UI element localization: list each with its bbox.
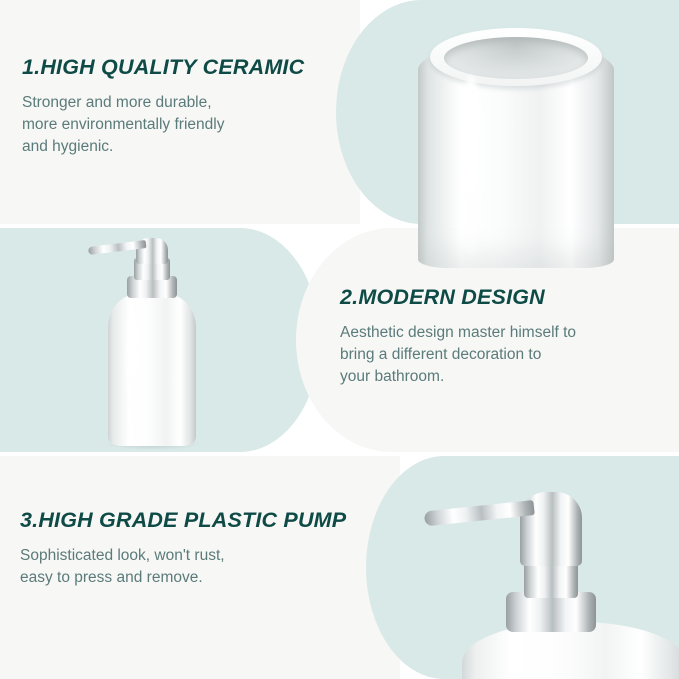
feature-3-text-block: 3.HIGH GRADE PLASTIC PUMP Sophisticated … [20,508,360,589]
tumbler-rim-inner [444,37,588,79]
feature-1-body: Stronger and more durable, more environm… [22,92,322,158]
feature-3-heading: 3.HIGH GRADE PLASTIC PUMP [20,508,360,533]
product-feature-infographic: 1.HIGH QUALITY CERAMIC Stronger and more… [0,0,679,679]
pump-base-ring [506,592,596,632]
ceramic-tumbler-image [418,28,614,268]
feature-2-body: Aesthetic design master himself to bring… [340,322,650,388]
soap-dispenser-image [100,232,210,450]
pump-nozzle-lever [424,500,535,526]
feature-2-text-block: 2.MODERN DESIGN Aesthetic design master … [340,285,650,388]
chrome-pump-closeup-image [408,470,679,679]
feature-3-body: Sophisticated look, won't rust, easy to … [20,545,360,589]
feature-1-heading: 1.HIGH QUALITY CERAMIC [22,55,322,80]
tumbler-highlight [458,76,484,258]
dispenser-highlight [126,310,139,430]
feature-2-heading: 2.MODERN DESIGN [340,285,650,310]
feature-1-text-block: 1.HIGH QUALITY CERAMIC Stronger and more… [22,55,322,158]
dispenser-bottle [108,294,196,446]
